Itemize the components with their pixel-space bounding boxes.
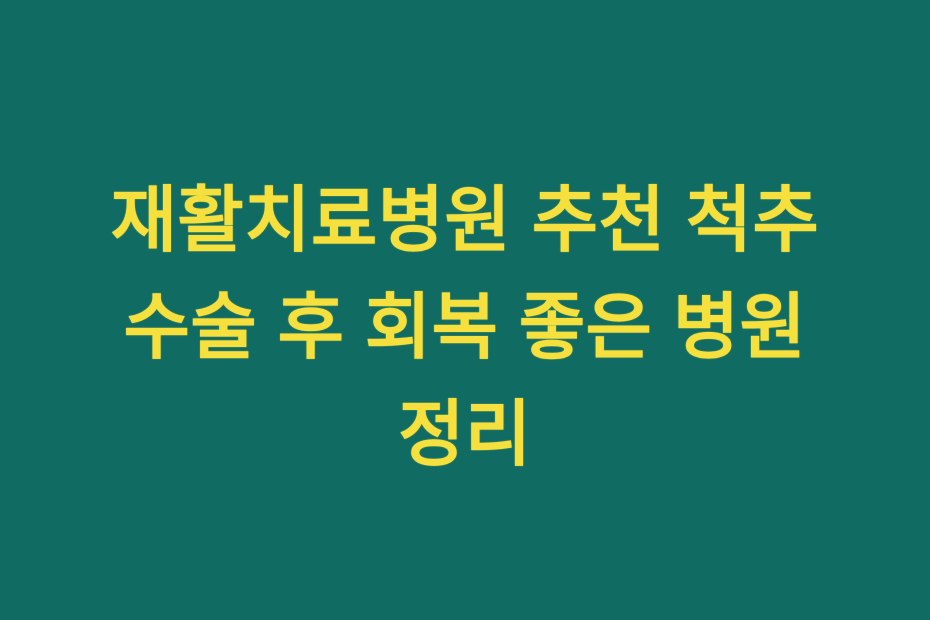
text-card: 재활치료병원 추천 척추 수술 후 회복 좋은 병원 정리 — [0, 0, 930, 620]
headline-line-2: 수술 후 회복 좋은 병원 — [40, 275, 890, 382]
headline-line-3: 정리 — [40, 382, 890, 489]
headline-line-1: 재활치료병원 추천 척추 — [40, 168, 890, 275]
headline-block: 재활치료병원 추천 척추 수술 후 회복 좋은 병원 정리 — [0, 168, 930, 489]
